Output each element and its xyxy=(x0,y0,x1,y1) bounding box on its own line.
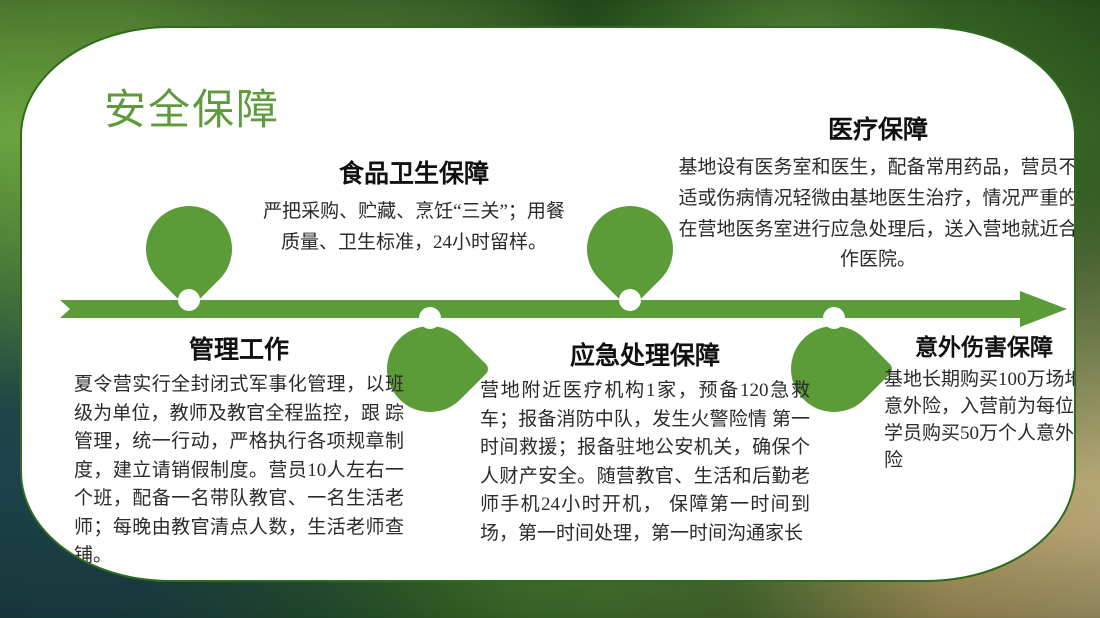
section-accident-insurance-heading: 意外伤害保障 xyxy=(884,328,1076,362)
section-management-heading: 管理工作 xyxy=(74,330,404,366)
section-food-hygiene-body: 严把采购、贮藏、烹饪“三关”；用餐质量、卫生标准，24小时留样。 xyxy=(258,197,570,259)
pin-nub-icon xyxy=(823,307,845,329)
section-medical-body: 基地设有医务室和医生，配备常用药品，营员不适或伤病情况轻微由基地医生治疗，情况严… xyxy=(674,153,1076,276)
timeline-pin-1[interactable] xyxy=(146,198,232,300)
timeline-bar xyxy=(60,300,1027,318)
pin-nub-icon xyxy=(178,289,200,311)
timeline-arrowhead-icon xyxy=(1020,291,1067,327)
pin-nub-icon xyxy=(619,289,641,311)
section-management-body: 夏令营实行全封闭式军事化管理，以班级为单位，教师及教官全程监控，跟 踪管理，统一… xyxy=(74,371,404,571)
section-medical-heading: 医疗保障 xyxy=(674,110,1076,146)
section-management: 管理工作 夏令营实行全封闭式军事化管理，以班级为单位，教师及教官全程监控，跟 踪… xyxy=(74,330,404,571)
section-medical: 医疗保障 基地设有医务室和医生，配备常用药品，营员不适或伤病情况轻微由基地医生治… xyxy=(674,110,1076,276)
timeline-pin-3[interactable] xyxy=(587,198,673,300)
slide-canvas: 安全保障 食品卫生保障 严把采购、贮藏、烹饪“三关”；用餐 xyxy=(0,0,1100,618)
page-title: 安全保障 xyxy=(104,90,280,132)
section-food-hygiene: 食品卫生保障 严把采购、贮藏、烹饪“三关”；用餐质量、卫生标准，24小时留样。 xyxy=(258,154,570,259)
section-emergency: 应急处理保障 营地附近医疗机构1家，预备120急救车；报备消防中队，发生火警险情… xyxy=(480,336,810,548)
timeline-axis xyxy=(60,300,1067,318)
section-emergency-heading: 应急处理保障 xyxy=(480,336,810,372)
content-card: 安全保障 食品卫生保障 严把采购、贮藏、烹饪“三关”；用餐 xyxy=(20,26,1076,582)
section-accident-insurance-body: 基地长期购买100万场地意外险，入营前为每位学员购买50万个人意外险 xyxy=(884,367,1076,475)
section-accident-insurance: 意外伤害保障 基地长期购买100万场地意外险，入营前为每位学员购买50万个人意外… xyxy=(884,328,1076,475)
section-emergency-body: 营地附近医疗机构1家，预备120急救车；报备消防中队，发生火警险情 第一时间救援… xyxy=(480,377,810,548)
pin-nub-icon xyxy=(419,307,441,329)
timeline-start-notch xyxy=(60,300,70,318)
section-food-hygiene-heading: 食品卫生保障 xyxy=(258,154,570,190)
